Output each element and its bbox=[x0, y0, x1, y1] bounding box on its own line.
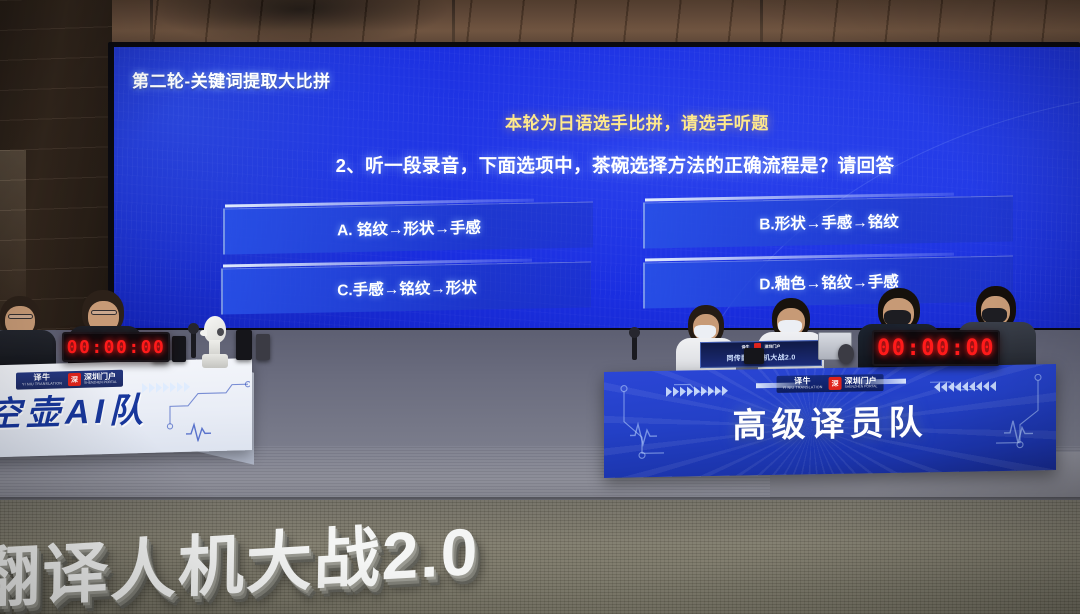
mannequin-base bbox=[202, 354, 228, 368]
chevron-left-icon bbox=[934, 381, 996, 392]
microphone-icon bbox=[632, 334, 637, 360]
glasses bbox=[91, 310, 117, 315]
option-c: C.手感→铭纹→形状 bbox=[221, 261, 591, 314]
device-round bbox=[838, 344, 854, 364]
option-d: D.釉色→铭纹→手感 bbox=[643, 255, 1013, 308]
question-lead: 本轮为日语选手比拼，请选手听题 bbox=[154, 109, 1080, 134]
device-box bbox=[172, 336, 186, 362]
circuit-decoration-icon bbox=[166, 370, 250, 442]
led-screen: 第二轮-关键词提取大比拼 本轮为日语选手比拼，请选手听题 2、听一段录音，下面选… bbox=[114, 47, 1080, 328]
device-box bbox=[744, 348, 764, 364]
option-d-label: D.釉色→铭纹→手感 bbox=[645, 267, 1013, 296]
round-title: 第二轮-关键词提取大比拼 bbox=[132, 67, 331, 92]
face-mask bbox=[694, 325, 716, 339]
option-c-label: C.手感→铭纹→形状 bbox=[223, 273, 591, 302]
device-box bbox=[256, 334, 270, 360]
left-team-desk: 译牛 YI NIU TRANSLATION 深 深圳门户 SHENZHEN PO… bbox=[0, 358, 252, 458]
right-team-timer: 00:00:00 bbox=[872, 330, 1000, 366]
left-team-timer: 00:00:00 bbox=[62, 332, 170, 362]
desk-highlight-bar bbox=[854, 379, 906, 385]
desk-highlight-bar bbox=[756, 382, 808, 388]
mannequin-nose bbox=[200, 330, 207, 336]
wall-light-strip bbox=[0, 150, 26, 320]
option-a: A. 铭纹→形状→手感 bbox=[223, 201, 593, 254]
chevron-right-icon bbox=[666, 386, 728, 397]
left-timer-digits: 00:00:00 bbox=[67, 337, 166, 358]
sponsor-mark-icon: 深 bbox=[829, 377, 842, 390]
sponsor-secondary-subtitle: SHENZHEN PORTAL bbox=[845, 385, 878, 389]
option-b-label: B.形状→手感→铭纹 bbox=[645, 207, 1013, 236]
left-wall-column bbox=[0, 0, 112, 330]
right-timer-digits: 00:00:00 bbox=[877, 336, 995, 361]
earbud-icon bbox=[217, 328, 224, 336]
left-team-name: 时空壶AI队 bbox=[0, 382, 148, 437]
mini-sponsor-secondary: 深圳门户 bbox=[765, 343, 781, 349]
question-body: 2、听一段录音，下面选项中，茶碗选择方法的正确流程是？请回答 bbox=[132, 152, 1080, 178]
right-team-desk: 译牛 YI NIU TRANSLATION 深 深圳门户 SHENZHEN PO… bbox=[604, 364, 1056, 478]
mannequin-head-prop bbox=[200, 316, 230, 368]
glasses bbox=[8, 314, 33, 319]
device-box bbox=[236, 330, 252, 360]
microphone-icon bbox=[191, 330, 196, 358]
chevron-right-icon bbox=[142, 382, 190, 393]
ceiling-shadow bbox=[150, 0, 450, 46]
option-b: B.形状→手感→铭纹 bbox=[643, 195, 1013, 248]
option-a-label: A. 铭纹→形状→手感 bbox=[225, 213, 593, 242]
stage-scene: 第二轮-关键词提取大比拼 本轮为日语选手比拼，请选手听题 2、听一段录音，下面选… bbox=[0, 0, 1080, 614]
